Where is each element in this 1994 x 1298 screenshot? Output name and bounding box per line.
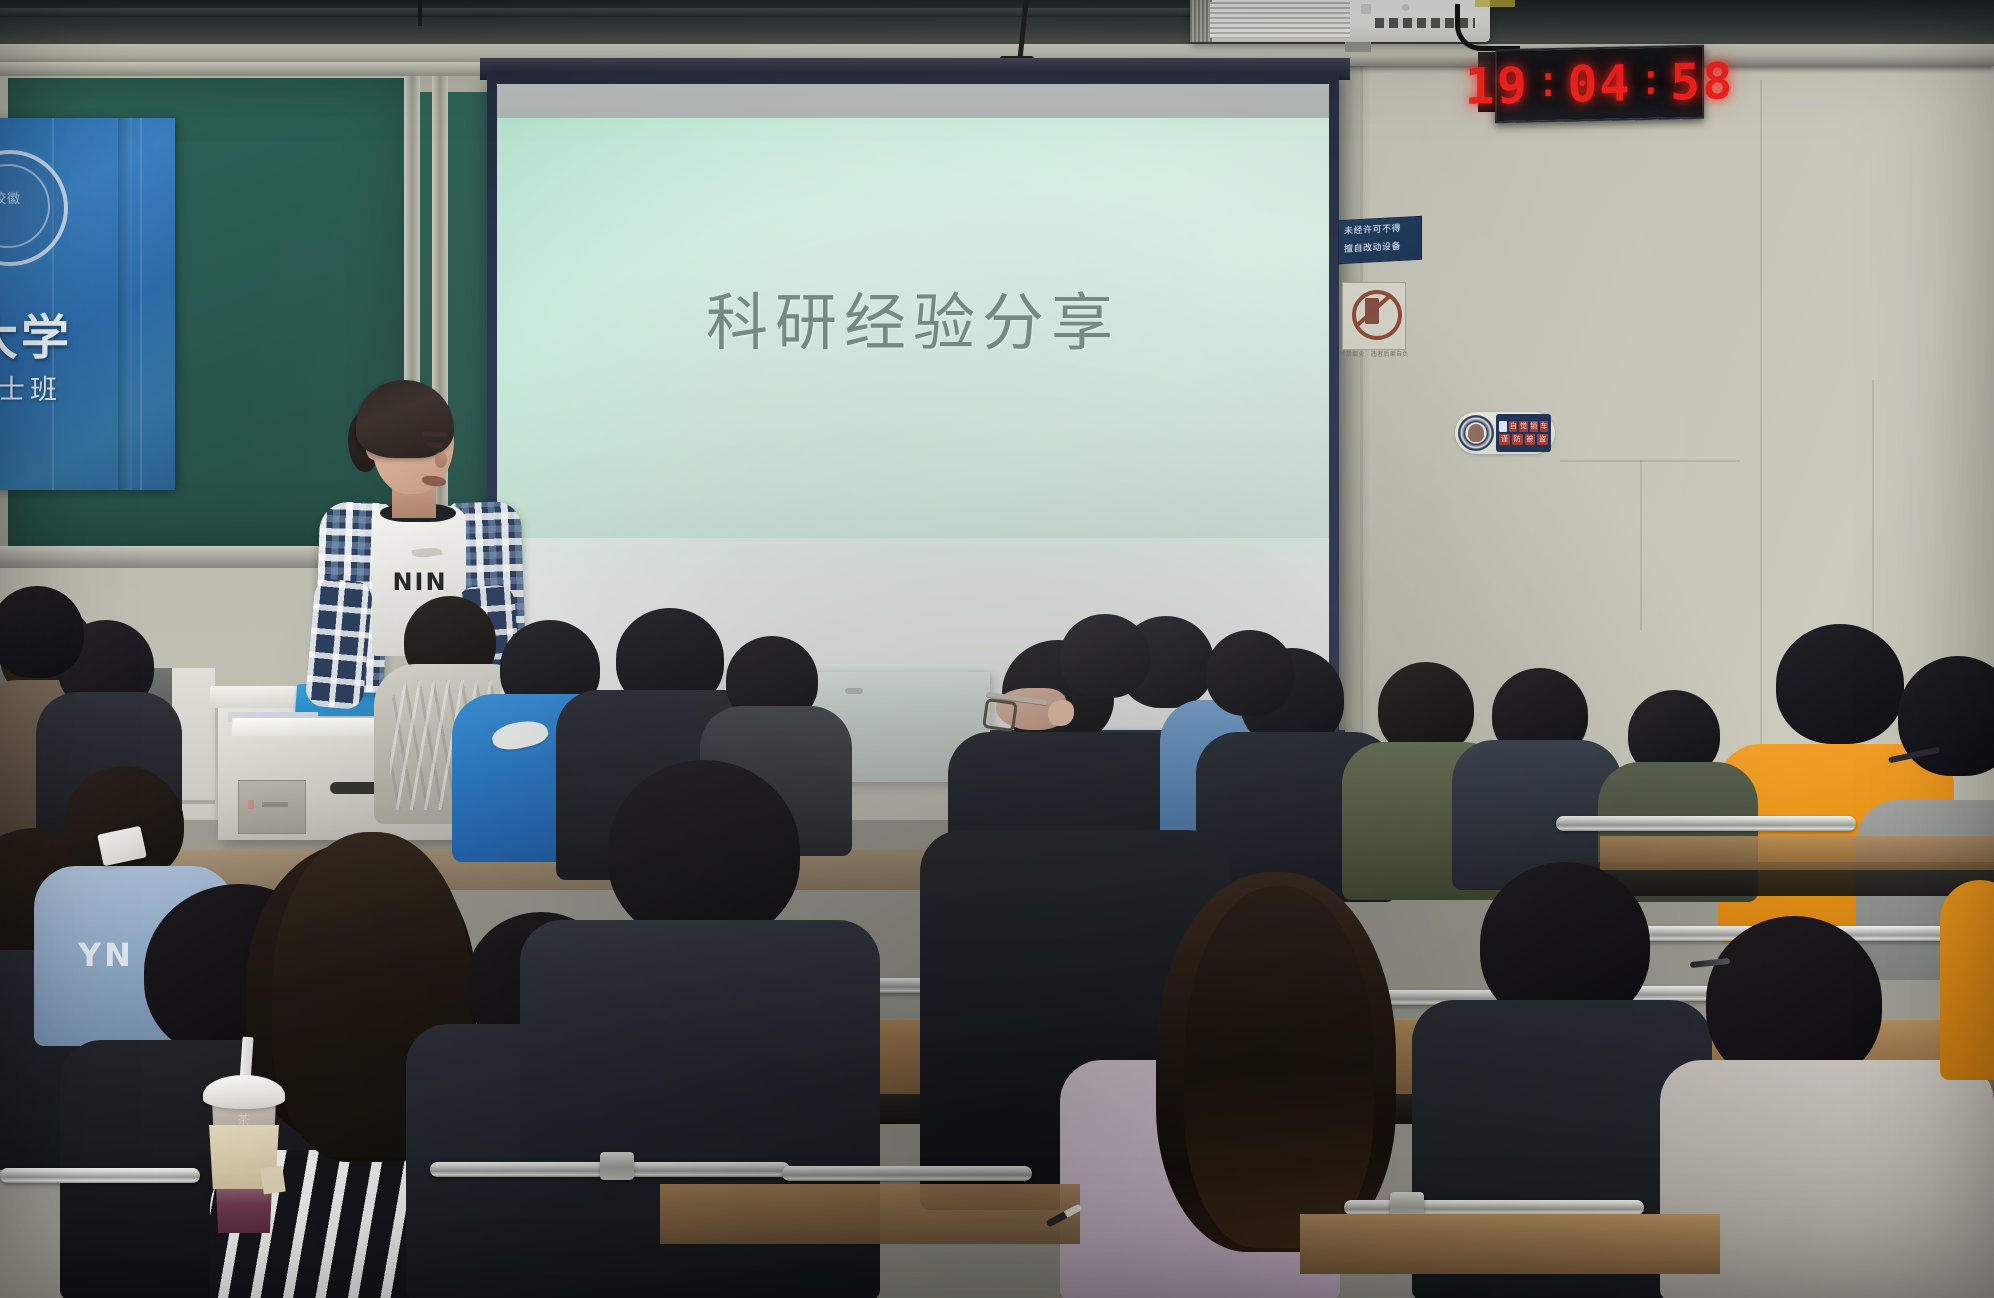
- bubble-tea-cup[interactable]: 茶: [208, 1075, 280, 1235]
- police-badge-icon: [1458, 415, 1494, 451]
- seal-text: 校徽: [0, 188, 44, 207]
- jacket-graphic-text: YN: [78, 936, 138, 974]
- clock-minutes: 04: [1567, 58, 1631, 109]
- bench-desk-front: [1300, 1214, 1720, 1274]
- digital-clock: 19 : 04 : 58: [1495, 45, 1704, 123]
- projector-cable: [1455, 4, 1520, 51]
- lecture-hall-photo: 19 : 04 : 58 校徽 大学 博士班 科研经验分享 未经许可不得 擅自改…: [0, 0, 1994, 1298]
- security-text-row: 谨 防 被 盗: [1499, 434, 1548, 445]
- security-char: 防: [1512, 434, 1523, 445]
- slide-title: 科研经验分享: [497, 272, 1329, 362]
- cup-sleeve-tab: [260, 1166, 285, 1195]
- no-smoking-caption: 严禁烟火 · 违者后果自负: [1339, 349, 1409, 358]
- bench-desk-far: [1600, 836, 1994, 870]
- clock-separator-icon: :: [1535, 60, 1562, 105]
- audience-head: [608, 760, 800, 942]
- projector-vents: [1210, 2, 1350, 38]
- security-char: 盗: [1537, 434, 1548, 445]
- notice-sign: 未经许可不得 擅自改动设备: [1338, 216, 1422, 264]
- bench-rail-front[interactable]: [0, 1168, 200, 1183]
- audience-hair: [1184, 886, 1374, 1248]
- security-char: [1499, 421, 1507, 432]
- security-char: 自: [1509, 421, 1517, 432]
- cup-label: 茶: [216, 1111, 272, 1127]
- banner-fold: [118, 118, 132, 490]
- banner-fold: [140, 118, 142, 490]
- security-char: 被: [1525, 434, 1536, 445]
- bench-desk-front: [660, 1184, 1080, 1244]
- projector-mount: [1345, 42, 1371, 52]
- glasses-lens-icon: [982, 698, 1018, 732]
- cup-lid: [203, 1075, 285, 1109]
- no-smoking-icon: [1352, 290, 1402, 340]
- security-sticker: 自 觉 锁 车 谨 防 被 盗: [1455, 412, 1555, 454]
- bench-rail: [1556, 816, 1856, 831]
- audience-head: [1776, 624, 1904, 744]
- control-slot-icon: [262, 802, 288, 807]
- presenter-arm-left: [305, 578, 374, 711]
- projector: [1190, 0, 1490, 42]
- bench-rail-front[interactable]: [1344, 1200, 1644, 1215]
- clock-hours: 19: [1465, 60, 1529, 111]
- audience-head: [1060, 614, 1150, 698]
- bench-rail-clamp: [600, 1152, 634, 1180]
- wall-seam: [1640, 460, 1642, 630]
- security-char: 觉: [1519, 421, 1527, 432]
- tshirt-text: NIN: [374, 568, 466, 596]
- audience-ear: [1048, 700, 1074, 726]
- screen-unlit-band: [497, 84, 1329, 118]
- clock-separator-icon: :: [1638, 58, 1665, 103]
- ceiling-cable: [418, 0, 422, 26]
- security-char: 锁: [1530, 421, 1538, 432]
- wall-seam: [1360, 60, 1363, 820]
- bench-rail-front[interactable]: [782, 1166, 1032, 1181]
- projector-vent-side: [1190, 0, 1212, 42]
- security-text-row: 自 觉 锁 车: [1499, 421, 1548, 432]
- power-indicator-icon: [248, 800, 254, 809]
- wall-seam: [1760, 80, 1762, 760]
- clock-seconds: 58: [1670, 56, 1734, 107]
- chalkboard-top-rail: [0, 62, 520, 76]
- projector-indicator-icon: [1402, 4, 1409, 11]
- audience-head: [0, 586, 84, 678]
- ceiling-beam-upper: [0, 8, 1330, 17]
- banner-subtitle: 博士班: [0, 368, 126, 407]
- audience-body: [1940, 880, 1994, 1080]
- audience-head: [64, 766, 184, 882]
- side-table-item: [845, 688, 863, 694]
- audience-head: [1206, 630, 1294, 716]
- banner-title: 大学: [0, 298, 120, 368]
- security-char: 车: [1540, 421, 1548, 432]
- projector-button[interactable]: [1361, 4, 1371, 14]
- security-sticker-panel: 自 觉 锁 车 谨 防 被 盗: [1496, 414, 1551, 452]
- wall-seam: [1560, 460, 1740, 462]
- security-char: 谨: [1499, 434, 1510, 445]
